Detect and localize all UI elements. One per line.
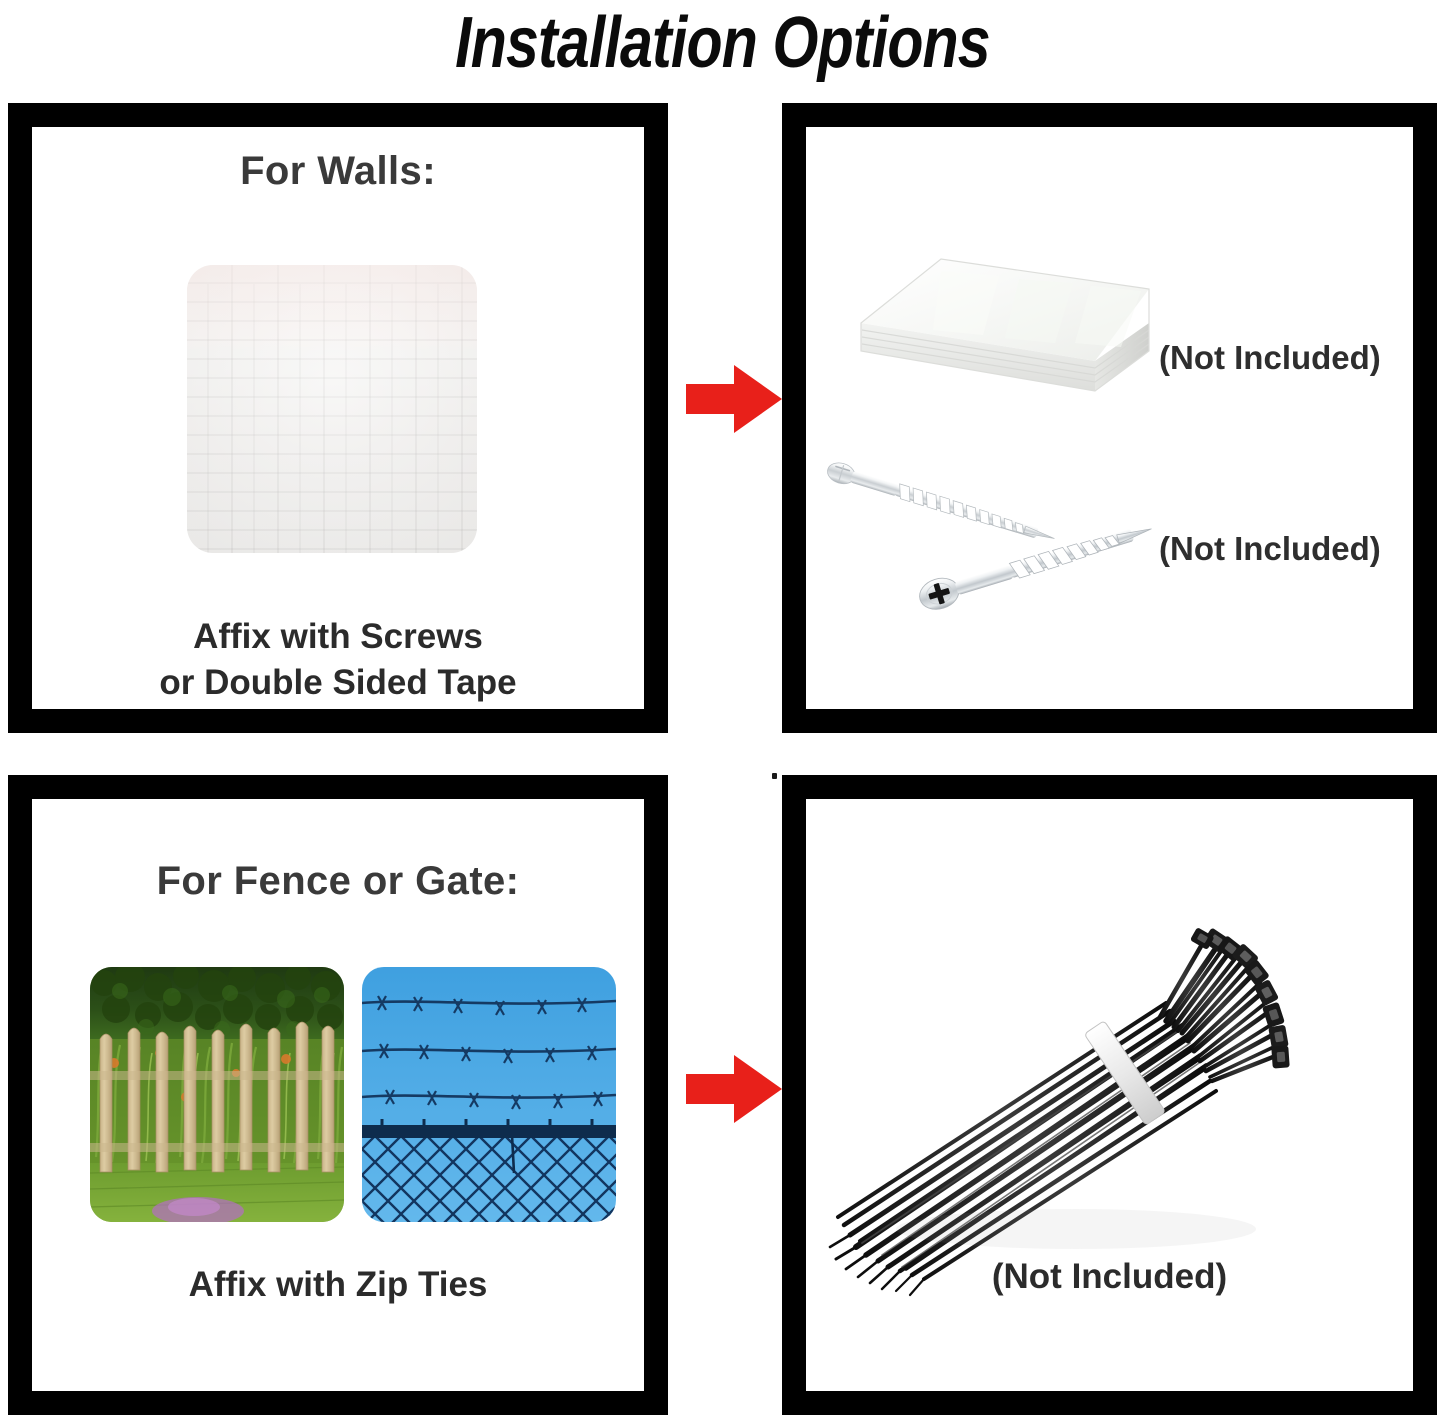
for-fence-caption: Affix with Zip Ties [32, 1262, 644, 1308]
panel-fence-hardware: (Not Included) [782, 775, 1437, 1415]
panel-fence-hardware-content: (Not Included) [806, 799, 1413, 1391]
installation-options-infographic: Installation Options For Walls: Affix wi… [0, 0, 1445, 1422]
for-walls-heading: For Walls: [32, 149, 644, 194]
black-zip-ties-bundle [826, 899, 1296, 1299]
chain-link-barbed-wire-fence-photo [362, 967, 616, 1222]
double-sided-tape-stack [849, 231, 1179, 426]
panel-wall-hardware: (Not Included) [782, 103, 1437, 733]
arrow-head [734, 1055, 782, 1123]
tape-not-included-label: (Not Included) [1159, 339, 1381, 377]
page-title: Installation Options [130, 0, 1315, 90]
panel-for-walls-content: For Walls: Affix with Screws or Double S… [32, 127, 644, 709]
for-walls-caption-line1: Affix with Screws [32, 614, 644, 660]
arrow-head [734, 365, 782, 433]
for-fence-heading: For Fence or Gate: [32, 859, 644, 904]
screws-not-included-label: (Not Included) [1159, 530, 1381, 568]
panel-for-walls: For Walls: Affix with Screws or Double S… [8, 103, 668, 733]
zip-ties-not-included-label: (Not Included) [806, 1254, 1413, 1300]
panel-wall-hardware-content: (Not Included) [806, 127, 1413, 709]
image-artifact-speck [772, 773, 777, 779]
wooden-picket-fence-photo [90, 967, 344, 1222]
red-right-arrow-top [686, 365, 782, 433]
panel-for-fence-content: For Fence or Gate: [32, 799, 644, 1391]
panel-for-fence-or-gate: For Fence or Gate: [8, 775, 668, 1415]
wood-screws [824, 447, 1174, 617]
for-walls-caption-line2: or Double Sided Tape [32, 660, 644, 706]
white-brick-wall-photo [187, 265, 477, 553]
red-right-arrow-bottom [686, 1055, 782, 1123]
